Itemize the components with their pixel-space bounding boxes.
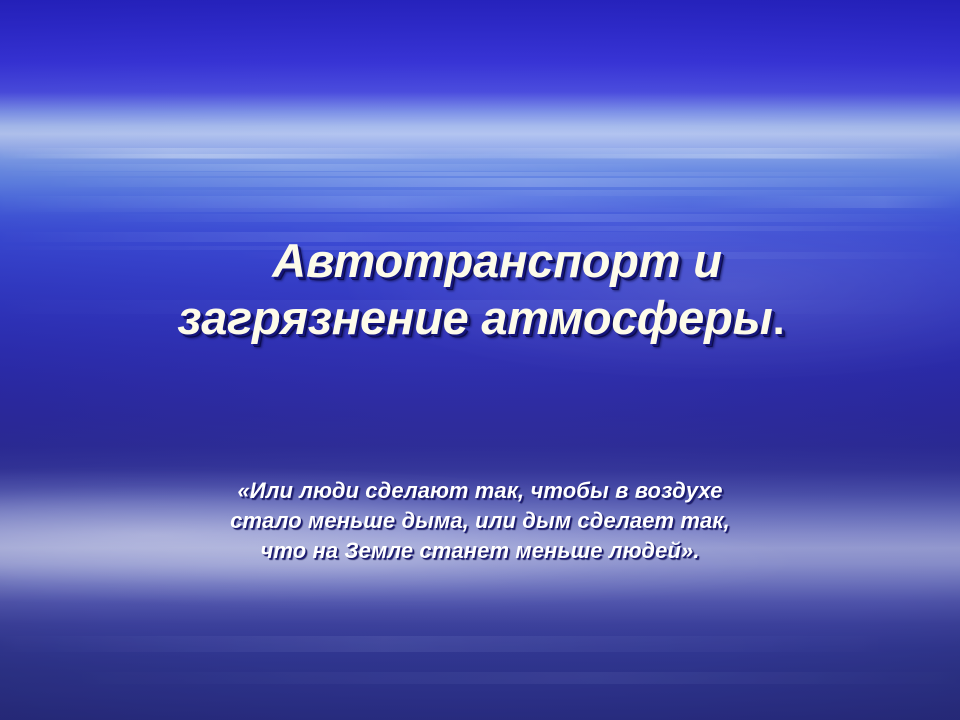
quote-line-2: стало меньше дыма, или дым сделает так,	[0, 506, 960, 536]
slide-title-line-1: Автотранспорт и	[0, 232, 960, 289]
slide-title-period: .	[773, 295, 785, 344]
slide-title-line-2: загрязнение атмосферы.	[0, 289, 960, 348]
quote-line-1: «Или люди сделают так, чтобы в воздухе	[0, 476, 960, 506]
quote-line-3: что на Земле станет меньше людей».	[0, 536, 960, 566]
slide-subtitle-quote: «Или люди сделают так, чтобы в воздухе с…	[0, 476, 960, 566]
presentation-slide: Автотранспорт и загрязнение атмосферы. «…	[0, 0, 960, 720]
slide-title-line-2-text: загрязнение атмосферы	[177, 291, 772, 344]
slide-title: Автотранспорт и загрязнение атмосферы.	[0, 232, 960, 348]
slide-content: Автотранспорт и загрязнение атмосферы. «…	[0, 0, 960, 720]
